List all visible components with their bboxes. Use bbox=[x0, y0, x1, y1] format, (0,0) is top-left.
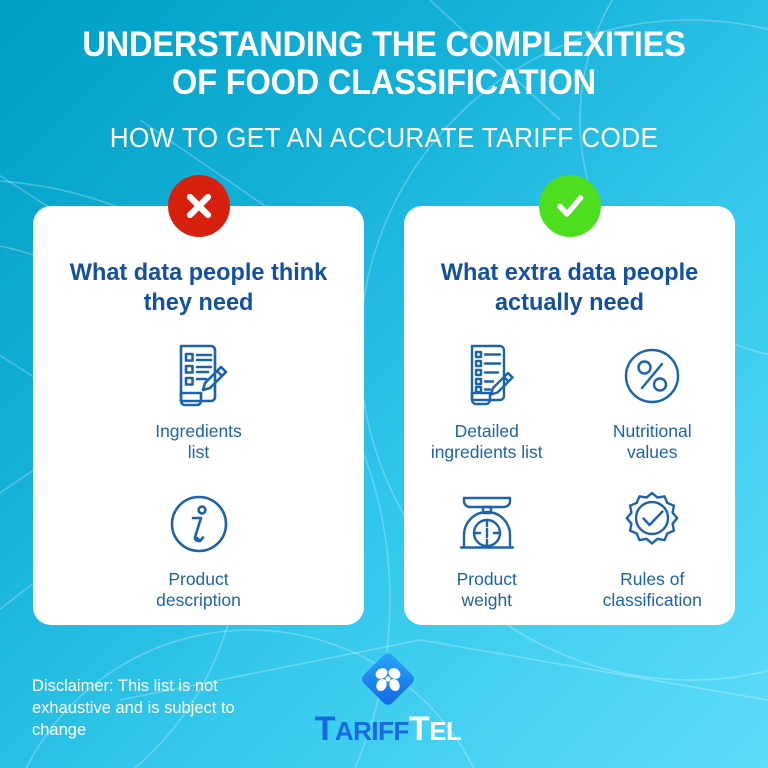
page-title: UNDERSTANDING THE COMPLEXITIES OF FOOD C… bbox=[70, 26, 699, 102]
list-item: Product weight bbox=[404, 488, 570, 612]
list-item: Ingredients list bbox=[33, 340, 364, 464]
tarifftel-wordmark: TARIFFTEL bbox=[288, 712, 488, 746]
cross-circle-icon bbox=[168, 175, 230, 237]
percent-circle-icon bbox=[618, 340, 686, 412]
list-item-label: Nutritional values bbox=[609, 421, 696, 464]
tarifftel-logo: TARIFFTEL bbox=[288, 648, 488, 746]
card-item-list: Detailed ingredients list Nutritional va… bbox=[404, 340, 735, 636]
card-item-list: Ingredients list Product description bbox=[33, 340, 364, 636]
card-title: What extra data people actually need bbox=[411, 258, 729, 318]
infographic-poster: UNDERSTANDING THE COMPLEXITIES OF FOOD C… bbox=[0, 0, 768, 768]
clipboard-pencil-icon bbox=[162, 340, 236, 412]
disclaimer-text: Disclaimer: This list is not exhaustive … bbox=[32, 676, 247, 742]
list-item: Rules of classification bbox=[570, 488, 736, 612]
info-circle-icon bbox=[162, 488, 236, 560]
kitchen-scale-icon bbox=[451, 488, 523, 560]
header: UNDERSTANDING THE COMPLEXITIES OF FOOD C… bbox=[0, 26, 768, 154]
card-title: What data people think they need bbox=[40, 258, 358, 318]
list-item-label: Detailed ingredients list bbox=[427, 421, 547, 464]
logo-word-primary: TARIFF bbox=[315, 710, 409, 748]
card-actually-need: What extra data people actually need bbox=[404, 206, 735, 625]
page-subtitle: HOW TO GET AN ACCURATE TARIFF CODE bbox=[19, 122, 749, 154]
list-item: Nutritional values bbox=[570, 340, 736, 464]
list-item-label: Ingredients list bbox=[151, 421, 246, 464]
clipboard-pencil-detailed-icon bbox=[453, 340, 521, 412]
list-item-label: Rules of classification bbox=[599, 569, 706, 612]
check-circle-icon bbox=[539, 175, 601, 237]
certified-badge-icon bbox=[617, 488, 687, 560]
list-item: Product description bbox=[33, 488, 364, 612]
tarifftel-diamond-logo-icon bbox=[357, 648, 419, 710]
list-item: Detailed ingredients list bbox=[404, 340, 570, 464]
card-think-they-need: What data people think they need bbox=[33, 206, 364, 625]
logo-word-secondary: TEL bbox=[409, 710, 462, 748]
list-item-label: Product weight bbox=[453, 569, 521, 612]
list-item-label: Product description bbox=[152, 569, 245, 612]
